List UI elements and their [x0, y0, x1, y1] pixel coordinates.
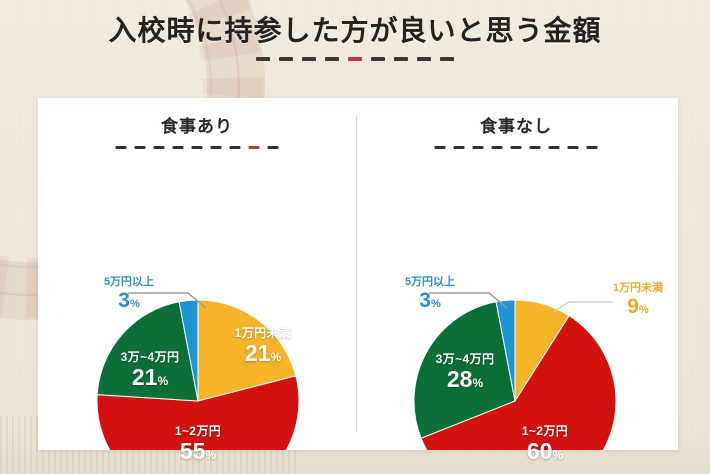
title-dash	[371, 57, 385, 61]
leader-line-right-over50k	[427, 286, 513, 312]
chart-card: 食事あり 5万円以上 3% 1万円未満	[38, 98, 678, 450]
title-dash-accent	[348, 57, 362, 61]
leader-line-right-under10k	[547, 294, 617, 316]
pie-svg-without-meals	[357, 98, 675, 450]
title-dash	[302, 57, 316, 61]
title-divider-dashes	[246, 57, 464, 62]
title-dash	[325, 57, 339, 61]
title-dash	[417, 57, 431, 61]
title-dash	[279, 57, 293, 61]
pie-chart-with-meals: 5万円以上 3% 1万円未満 21% 3万~4万円 21% 1~2万円 55%	[38, 98, 356, 450]
pie-svg-with-meals	[38, 98, 356, 450]
chart-panel-without-meals: 食事なし 5万円以上 3%	[357, 98, 675, 450]
page-title: 入校時に持参した方が良いと思う金額	[0, 14, 710, 48]
title-dash	[256, 57, 270, 61]
title-area: 入校時に持参した方が良いと思う金額	[0, 14, 710, 62]
leader-line-left-over50k	[126, 286, 212, 312]
title-dash	[394, 57, 408, 61]
title-dash	[440, 57, 454, 61]
chart-panel-with-meals: 食事あり 5万円以上 3% 1万円未満	[38, 98, 356, 450]
pie-chart-without-meals: 5万円以上 3% 1万円未満 9% 3万~4万円 28% 1~2万円 60%	[357, 98, 675, 450]
